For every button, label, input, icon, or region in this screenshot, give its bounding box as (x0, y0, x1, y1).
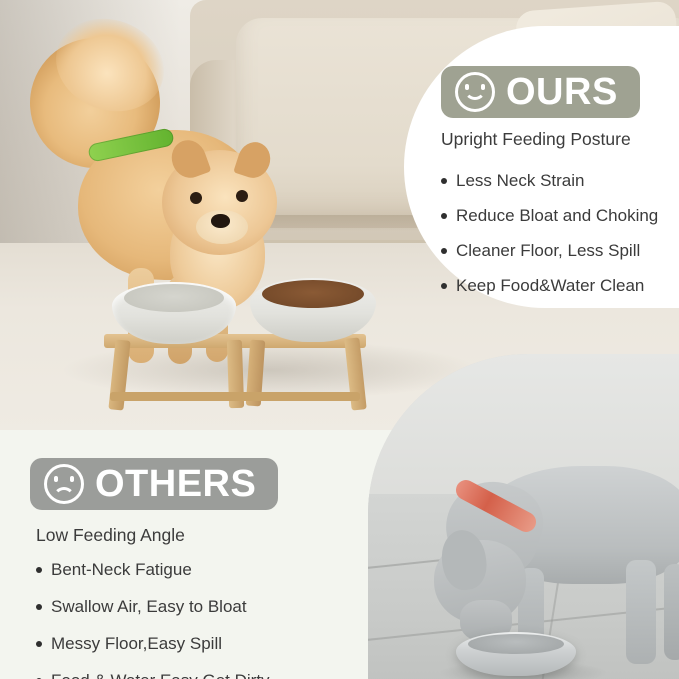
list-item: Reduce Bloat and Choking (441, 207, 658, 224)
bullet-dot-icon (441, 213, 447, 219)
ours-subheading: Upright Feeding Posture (441, 129, 631, 150)
bowl-stand-rail (110, 392, 360, 401)
dog-nose (211, 214, 230, 228)
dry-food (262, 280, 364, 308)
bullet-dot-icon (36, 641, 42, 647)
water-bowl-interior (124, 284, 224, 312)
list-item-label: Less Neck Strain (456, 172, 585, 189)
frowning-face-icon (44, 464, 84, 504)
ours-badge: OURS (441, 66, 640, 118)
list-item: Swallow Air, Easy to Bloat (36, 598, 270, 615)
bullet-dot-icon (36, 604, 42, 610)
list-item: Keep Food&Water Clean (441, 277, 658, 294)
dog-leg (626, 560, 656, 664)
list-item-label: Swallow Air, Easy to Bloat (51, 598, 247, 615)
list-item-label: Bent-Neck Fatigue (51, 561, 192, 578)
list-item-label: Messy Floor,Easy Spill (51, 635, 222, 652)
bullet-dot-icon (441, 248, 447, 254)
list-item-label: Keep Food&Water Clean (456, 277, 644, 294)
dog-eye-right (236, 190, 248, 202)
list-item: Messy Floor,Easy Spill (36, 635, 270, 652)
others-badge-label: OTHERS (95, 465, 256, 503)
bullet-dot-icon (441, 283, 447, 289)
dog-eye-left (190, 192, 202, 204)
ours-bullet-list: Less Neck Strain Reduce Bloat and Chokin… (441, 172, 658, 312)
ours-badge-label: OURS (506, 73, 618, 111)
list-item-label: Food & Water Easy Get Dirty (51, 672, 270, 679)
dog-leg (664, 564, 679, 660)
list-item: Cleaner Floor, Less Spill (441, 242, 658, 259)
others-bullet-list: Bent-Neck Fatigue Swallow Air, Easy to B… (36, 561, 270, 679)
product-comparison-infographic: OURS Upright Feeding Posture Less Neck S… (0, 0, 679, 679)
floor-bowl-interior (468, 634, 564, 654)
others-badge: OTHERS (30, 458, 278, 510)
bullet-dot-icon (36, 567, 42, 573)
others-subheading: Low Feeding Angle (36, 525, 185, 546)
smiley-face-icon (455, 72, 495, 112)
others-photo (368, 354, 679, 679)
list-item: Food & Water Easy Get Dirty (36, 672, 270, 679)
list-item: Less Neck Strain (441, 172, 658, 189)
list-item: Bent-Neck Fatigue (36, 561, 270, 578)
bullet-dot-icon (441, 178, 447, 184)
list-item-label: Cleaner Floor, Less Spill (456, 242, 640, 259)
list-item-label: Reduce Bloat and Choking (456, 207, 658, 224)
